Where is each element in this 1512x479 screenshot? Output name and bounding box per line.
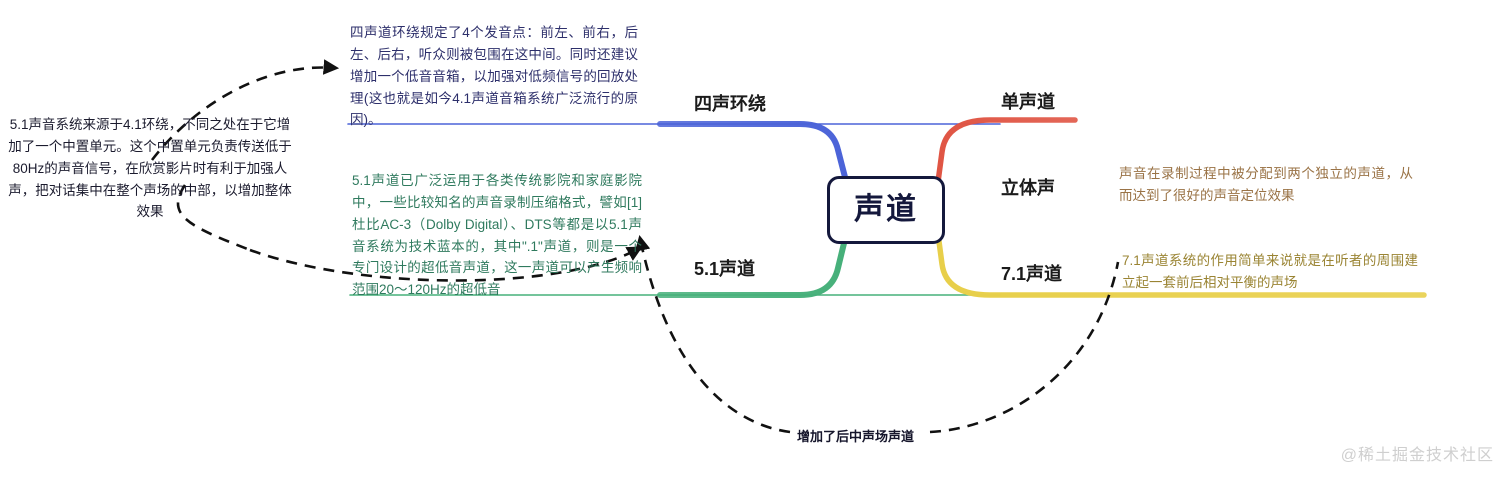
root-node-label: 声道 xyxy=(854,195,918,225)
branch-label-stereo[interactable]: 立体声 xyxy=(1001,174,1055,200)
note-five[interactable]: 5.1声道已广泛运用于各类传统影院和家庭影院中，一些比较知名的声音录制压缩格式，… xyxy=(352,170,642,301)
watermark: @稀土掘金技术社区 xyxy=(1341,441,1494,465)
mindmap-canvas: 声道 四声环绕 5.1声道 单声道 立体声 7.1声道 四声道环绕规定了4个发音… xyxy=(0,0,1512,479)
annotation-left-note[interactable]: 5.1声音系统来源于4.1环绕，不同之处在于它增加了一个中置单元。这个中置单元负… xyxy=(4,114,296,223)
note-quad[interactable]: 四声道环绕规定了4个发音点：前左、前右，后左、后右，听众则被包围在这中间。同时还… xyxy=(350,22,638,131)
branch-wires xyxy=(0,0,1512,479)
root-node[interactable]: 声道 xyxy=(827,176,945,244)
note-stereo[interactable]: 声音在录制过程中被分配到两个独立的声道，从而达到了很好的声音定位效果 xyxy=(1119,163,1413,207)
branch-wire-mono xyxy=(938,120,1075,182)
branch-wire-quad xyxy=(660,124,846,181)
branch-label-seven[interactable]: 7.1声道 xyxy=(1001,260,1062,286)
annotation-bottom-label[interactable]: 增加了后中声场声道 xyxy=(797,426,914,445)
branch-label-mono[interactable]: 单声道 xyxy=(1001,88,1055,114)
branch-label-five[interactable]: 5.1声道 xyxy=(694,255,755,281)
dashed-connector-bottom-to-seven xyxy=(930,262,1118,432)
note-seven[interactable]: 7.1声道系统的作用简单来说就是在听者的周围建立起一套前后相对平衡的声场 xyxy=(1122,250,1418,294)
branch-label-quad[interactable]: 四声环绕 xyxy=(694,90,766,116)
